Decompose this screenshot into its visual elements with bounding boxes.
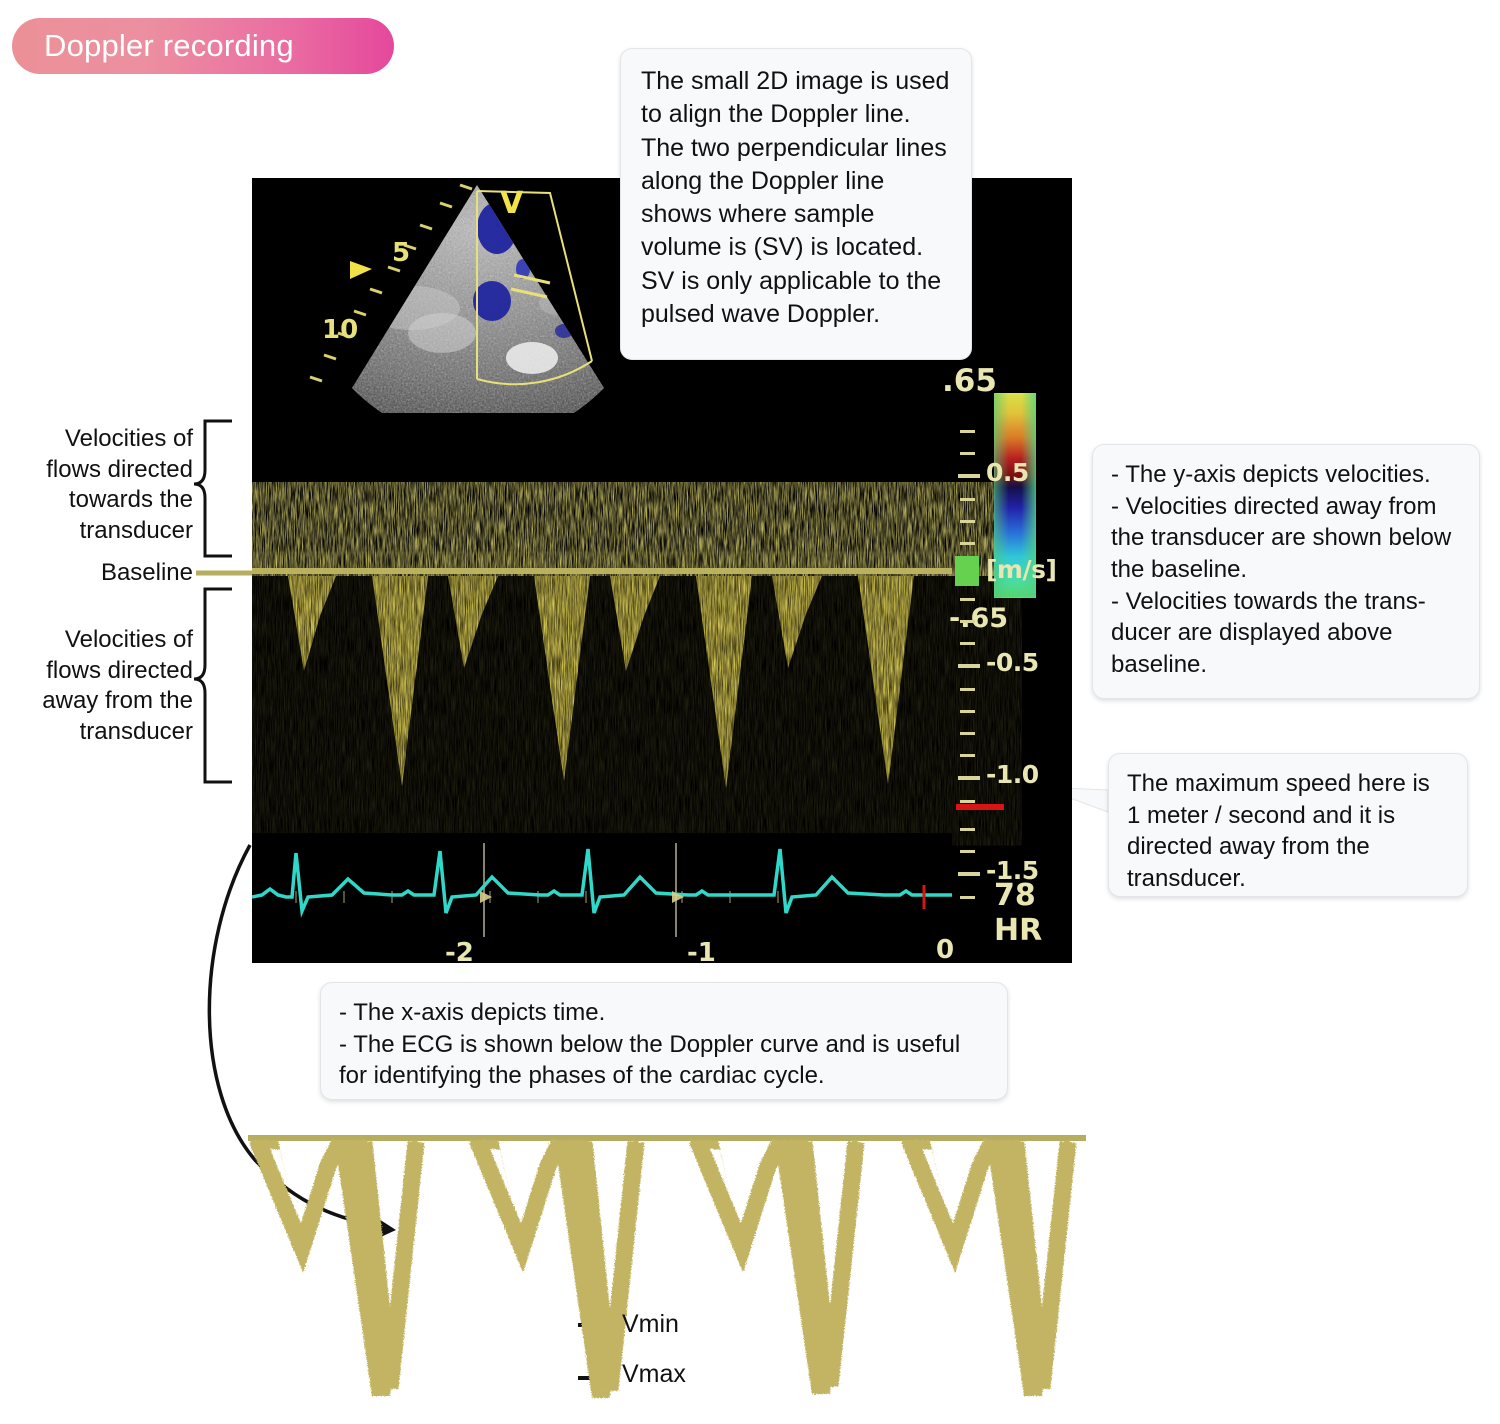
vmin-label: Vmin xyxy=(622,1310,679,1339)
callout-x-axis: - The x-axis depicts time. - The ECG is … xyxy=(320,982,1008,1100)
y-major-tick-0.5 xyxy=(958,474,980,478)
y-minor-tick xyxy=(960,828,975,831)
y-major-tick--1.0 xyxy=(958,776,980,780)
bracket-towards xyxy=(194,421,232,556)
spectral-reverse-flow xyxy=(252,576,952,821)
heart-rate-value: 78 xyxy=(994,878,1036,913)
y-minor-tick xyxy=(960,520,975,523)
callout-two-d-image: The small 2D image is used to align the … xyxy=(620,48,972,360)
y-minor-tick xyxy=(960,850,975,853)
doppler-baseline xyxy=(252,568,952,574)
two-d-sector-image[interactable]: 5 10 V xyxy=(292,183,662,413)
spectral-forward-flow xyxy=(252,420,952,568)
heart-rate-unit: HR xyxy=(994,913,1042,948)
focus-marker-triangle xyxy=(350,261,372,279)
page-title-badge: Doppler recording xyxy=(12,18,394,74)
y-minor-tick xyxy=(960,688,975,691)
callout-max-speed: The maximum speed here is 1 meter / seco… xyxy=(1108,753,1468,897)
y-major-tick--1.5 xyxy=(958,872,980,876)
y-minor-tick xyxy=(960,754,975,757)
y-label--0.5: -0.5 xyxy=(986,648,1039,677)
y-minor-tick xyxy=(960,430,975,433)
y-label--1.0: -1.0 xyxy=(986,760,1039,789)
y-minor-tick xyxy=(960,542,975,545)
y-minor-tick xyxy=(960,710,975,713)
page-title: Doppler recording xyxy=(12,28,294,64)
y-label-0.5: 0.5 xyxy=(986,458,1029,487)
x-tick-minus1: -1 xyxy=(687,938,716,963)
y-minor-tick xyxy=(960,642,975,645)
y-major-tick--0.5 xyxy=(958,664,980,668)
x-tick-minus2: -2 xyxy=(445,938,474,963)
y-minor-tick xyxy=(960,598,975,601)
y-unit-label: [m/s] xyxy=(986,555,1056,584)
sector-marker-label: V xyxy=(500,186,524,221)
y-minor-tick xyxy=(960,800,975,803)
bracket-away xyxy=(194,589,232,782)
depth-label-5: 5 xyxy=(392,238,410,268)
schematic-beat-strokes xyxy=(258,1142,1068,1390)
y-minor-tick xyxy=(960,498,975,501)
label-velocities-away: Velocities of flows directed away from t… xyxy=(28,625,193,748)
label-velocities-towards: Velocities of flows directed towards the… xyxy=(28,424,193,547)
red-scale-marker xyxy=(956,804,1004,810)
y-minor-tick xyxy=(960,732,975,735)
label-baseline: Baseline xyxy=(28,558,193,589)
baseline-green-marker xyxy=(955,556,979,586)
ecg-trace xyxy=(252,833,952,943)
y-minor-tick xyxy=(960,620,975,623)
y-minor-tick xyxy=(960,452,975,455)
callout-y-axis: - The y-axis depicts velocities. - Veloc… xyxy=(1092,444,1480,699)
y-minor-tick xyxy=(960,896,975,899)
vmax-label: Vmax xyxy=(622,1360,686,1389)
depth-label-10: 10 xyxy=(322,315,358,345)
